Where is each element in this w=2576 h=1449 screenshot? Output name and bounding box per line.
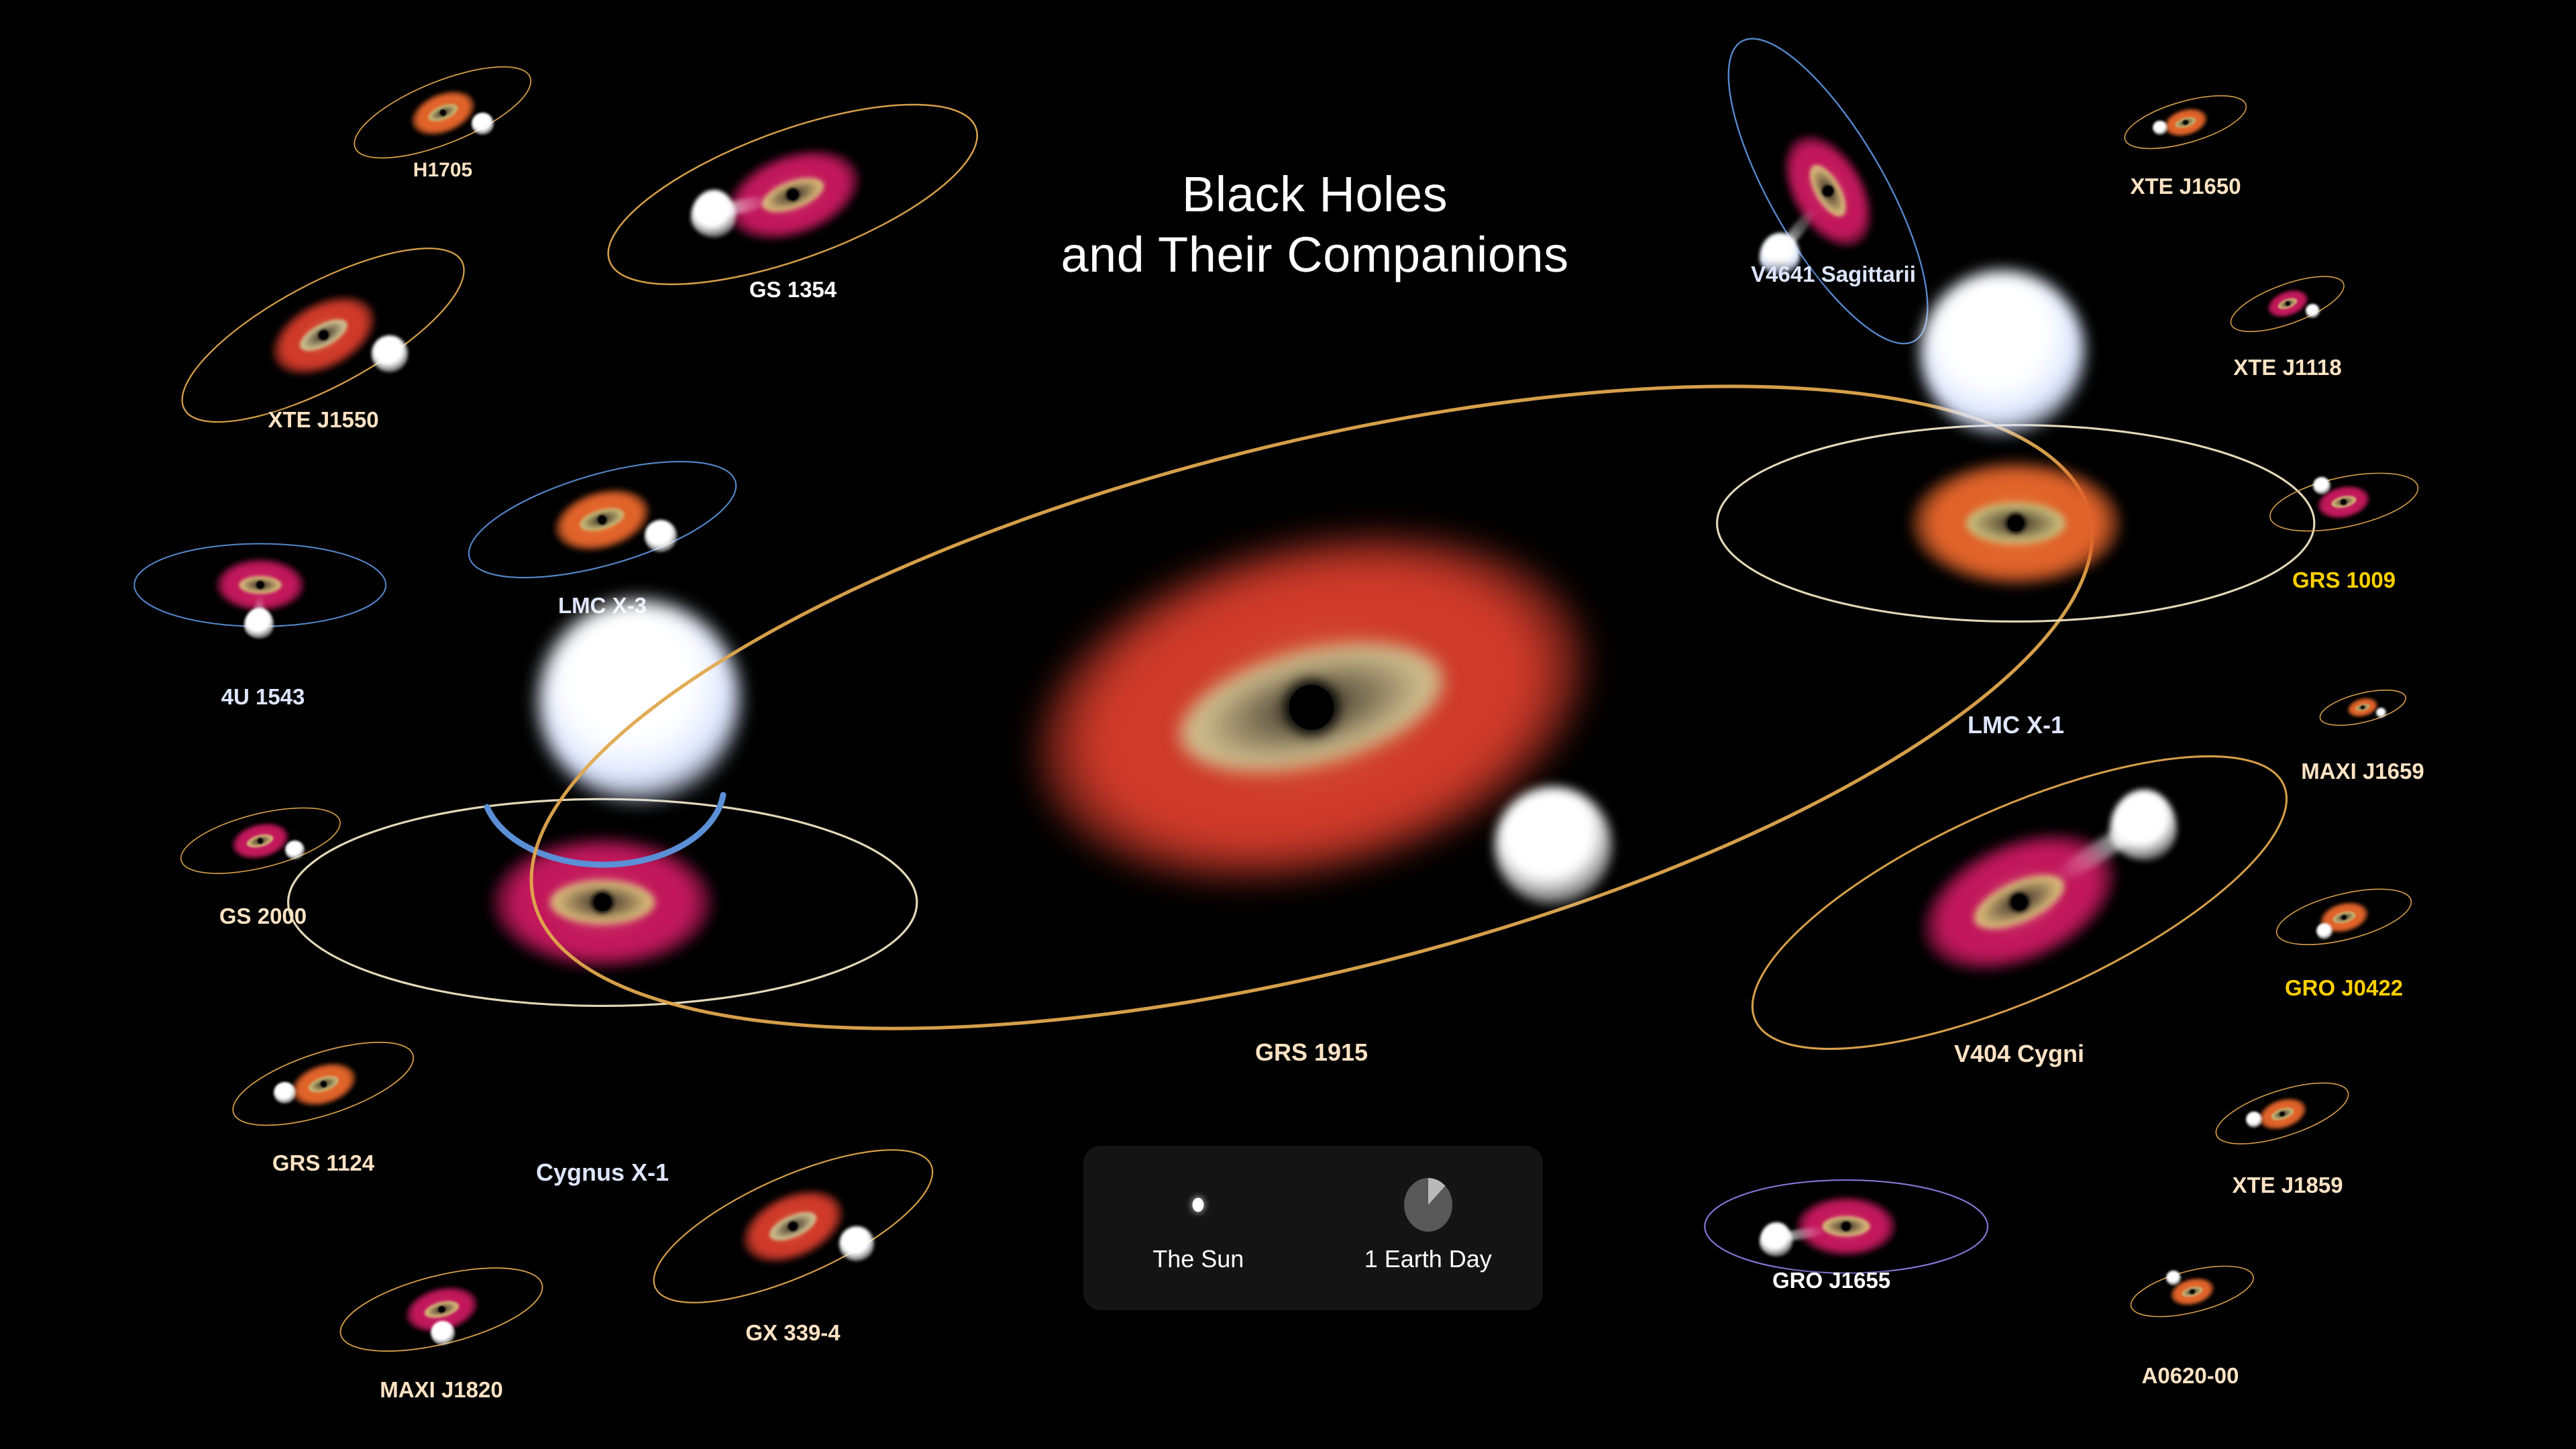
system-label-grs1009: GRS 1009 <box>2292 568 2396 593</box>
companion-star <box>2166 1271 2181 1285</box>
legend-label-earth-day: 1 Earth Day <box>1364 1245 1492 1273</box>
companion-star <box>1495 787 1612 904</box>
accretion-disk <box>1796 1197 1896 1256</box>
pie-clock-icon <box>1404 1178 1452 1232</box>
system-label-a0620: A0620-00 <box>2142 1363 2239 1389</box>
black-hole <box>2008 515 2025 532</box>
black-hole <box>2190 1289 2194 1293</box>
legend-item-sun: The Sun <box>1083 1146 1313 1310</box>
companion-star <box>2316 923 2332 939</box>
system-label-xtej1650: XTE J1650 <box>2130 174 2241 199</box>
sun-dot-icon <box>1193 1198 1204 1212</box>
sky-canvas: Black Holes and Their Companions H1705GS… <box>0 0 2576 1449</box>
legend-label-sun: The Sun <box>1152 1245 1244 1273</box>
system-label-grs1915: GRS 1915 <box>1255 1038 1368 1067</box>
system-label-maxij1820: MAXI J1820 <box>380 1377 502 1403</box>
legend-item-earth-day: 1 Earth Day <box>1313 1146 1544 1310</box>
companion-star <box>2153 121 2167 136</box>
companion-star <box>1921 270 2085 435</box>
system-label-groj1655: GRO J1655 <box>1772 1268 1890 1293</box>
companion-star <box>2313 477 2330 494</box>
black-hole <box>1842 1222 1850 1230</box>
system-label-xtej1859: XTE J1859 <box>2232 1173 2343 1198</box>
legend-panel: The Sun 1 Earth Day <box>1083 1146 1543 1310</box>
system-label-v404: V404 Cygni <box>1954 1040 2084 1068</box>
accretion-disk <box>1911 461 2121 585</box>
system-label-groj0422: GRO J0422 <box>2285 975 2403 1001</box>
